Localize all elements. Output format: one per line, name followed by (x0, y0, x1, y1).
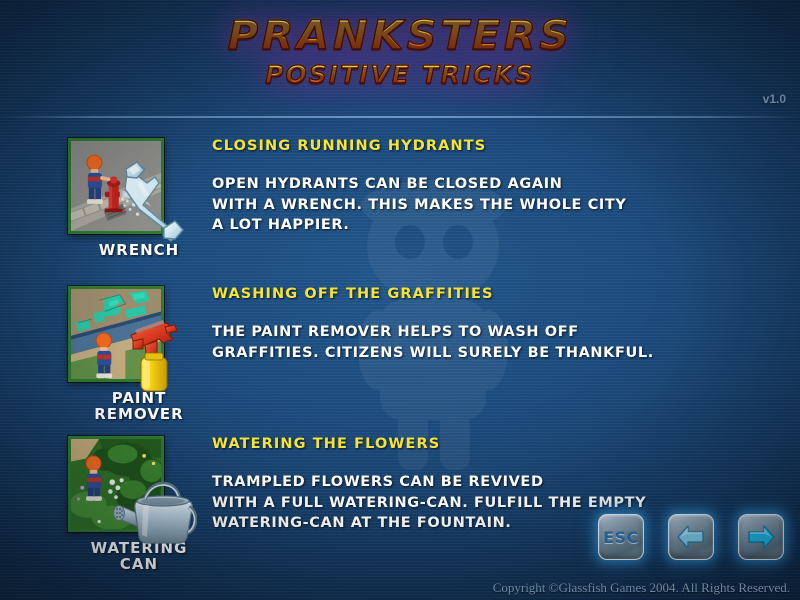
flowers-scene-art (71, 439, 161, 529)
trick-heading: WASHING OFF THE GRAFFITIES (212, 286, 772, 302)
version-label: v1.0 (763, 92, 786, 106)
thumbnail-label: PAINT REMOVER (68, 390, 210, 422)
flowers-scene-thumbnail[interactable] (68, 436, 164, 532)
thumbnail-label: WATERING CAN (68, 540, 210, 572)
trick-description: OPEN HYDRANTS CAN BE CLOSED AGAIN WITH A… (212, 174, 772, 236)
page-subtitle: POSITIVE TRICKS (0, 62, 800, 87)
esc-button[interactable]: ESC (598, 514, 644, 560)
hydrant-scene-thumbnail[interactable] (68, 138, 164, 234)
trick-text-column: CLOSING RUNNING HYDRANTS OPEN HYDRANTS C… (212, 138, 772, 236)
header-divider (0, 116, 800, 118)
thumbnail-label: WRENCH (68, 242, 210, 258)
thumbnail-column: WRENCH (60, 138, 210, 258)
arrow-left-icon (676, 523, 706, 551)
copyright-footer: Copyright ©Glassfish Games 2004. All Rig… (493, 580, 790, 596)
trick-heading: WATERING THE FLOWERS (212, 436, 772, 452)
game-screen: PRANKSTERS POSITIVE TRICKS v1.0 (0, 0, 800, 600)
esc-button-label: ESC (603, 528, 639, 547)
trick-description: THE PAINT REMOVER HELPS TO WASH OFF GRAF… (212, 322, 772, 363)
thumbnail-column: PAINT REMOVER (60, 286, 210, 422)
trick-heading: CLOSING RUNNING HYDRANTS (212, 138, 772, 154)
arrow-right-icon (746, 523, 776, 551)
graffiti-scene-thumbnail[interactable] (68, 286, 164, 382)
next-page-button[interactable] (738, 514, 784, 560)
graffiti-scene-art (71, 289, 161, 379)
navigation-button-bar: ESC (598, 514, 788, 566)
trick-text-column: WASHING OFF THE GRAFFITIES THE PAINT REM… (212, 286, 772, 363)
thumbnail-column: WATERING CAN (60, 436, 210, 572)
page-title: PRANKSTERS (0, 16, 800, 56)
hydrant-scene-art (71, 141, 161, 231)
title-block: PRANKSTERS POSITIVE TRICKS (0, 16, 800, 87)
previous-page-button[interactable] (668, 514, 714, 560)
